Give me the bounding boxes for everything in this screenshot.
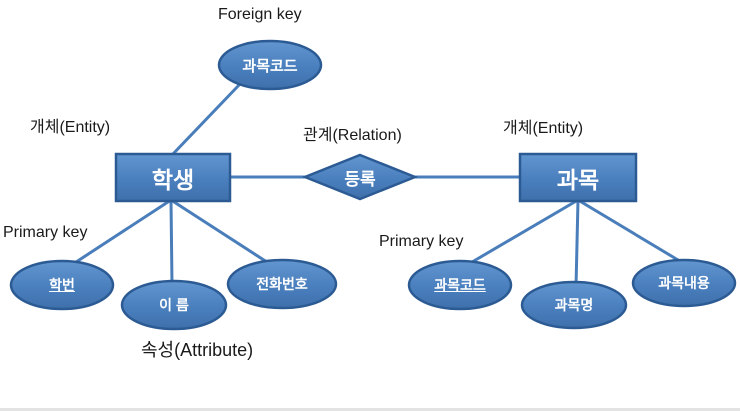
connector-student-to-student-phone — [171, 200, 270, 264]
connector-student-to-student-name — [171, 200, 172, 285]
connector-fk-to-student — [172, 84, 240, 155]
annotation-primary-key-left: Primary key — [3, 224, 87, 242]
attribute-shape-student-name[interactable] — [122, 281, 226, 329]
connector-course-to-course-content — [578, 200, 683, 263]
annotation-attribute-bottom: 속성(Attribute) — [141, 336, 253, 362]
annotation-entity-right: 개체(Entity) — [503, 114, 583, 138]
relation-shape-enroll[interactable] — [305, 155, 415, 199]
annotation-entity-left: 개체(Entity) — [30, 113, 110, 137]
attribute-shape-student-phone[interactable] — [228, 260, 336, 308]
er-diagram-canvas: 과목코드 학생 과목 등록 학번 이 름 전화번호 과목코드 과목명 과목내용 … — [0, 0, 740, 411]
entity-shape-student[interactable] — [116, 154, 230, 201]
attribute-shape-student-id[interactable] — [11, 261, 113, 309]
annotation-relation: 관계(Relation) — [303, 121, 402, 145]
connector-course-to-course-code — [467, 200, 578, 265]
attribute-shape-course-name[interactable] — [522, 282, 626, 328]
annotation-primary-key-right: Primary key — [379, 233, 463, 251]
entity-shape-course[interactable] — [520, 154, 636, 201]
annotation-foreign-key: Foreign key — [218, 6, 302, 24]
connector-layer — [0, 0, 740, 411]
connector-course-to-course-name — [576, 200, 578, 287]
attribute-shape-course-code[interactable] — [409, 261, 511, 309]
attribute-shape-fk-course-code[interactable] — [219, 41, 321, 89]
attribute-shape-course-content[interactable] — [633, 260, 735, 306]
